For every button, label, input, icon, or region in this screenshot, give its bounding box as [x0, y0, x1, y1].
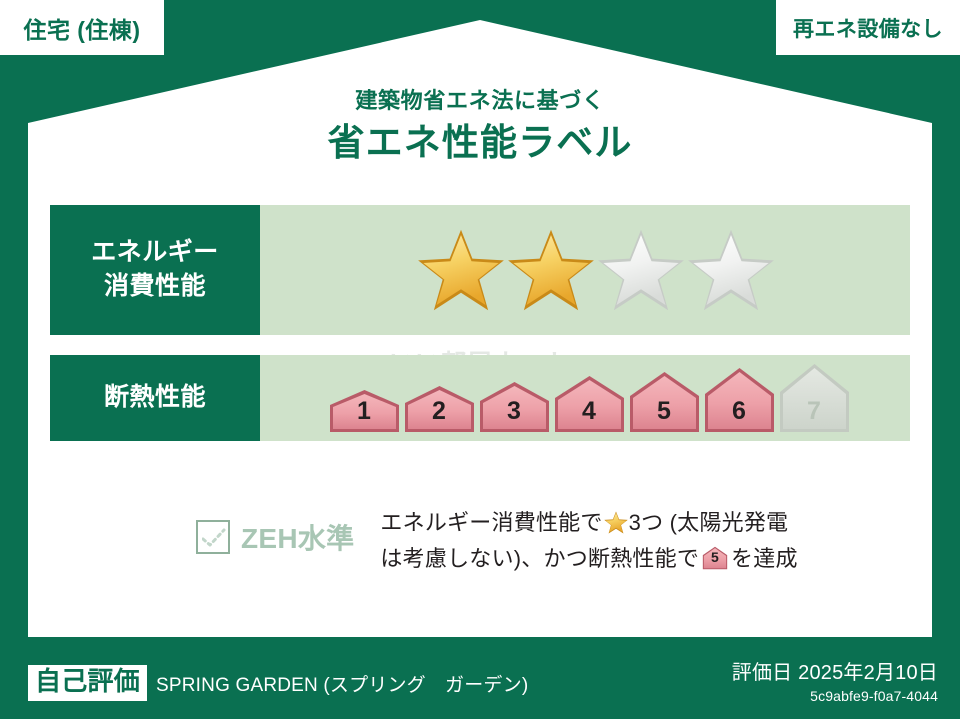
- energy-performance-label: 住宅 (住棟) 再エネ設備なし 建築物省エネ法に基づく 省エネ性能ラベル いい部…: [0, 0, 960, 719]
- inline-grade-badge: 5: [702, 546, 728, 570]
- title-block: 建築物省エネ法に基づく 省エネ性能ラベル: [0, 88, 960, 167]
- inline-grade-value: 5: [702, 546, 728, 569]
- label-id: 5c9abfe9-f0a7-4044: [732, 688, 938, 705]
- zeh-mark: ZEH水準: [196, 517, 354, 557]
- footer-right: 評価日 2025年2月10日 5c9abfe9-f0a7-4044: [732, 660, 938, 705]
- inline-star-icon: [604, 511, 628, 534]
- energy-label-line1: エネルギー: [91, 236, 219, 270]
- zeh-desc-part3: を達成: [731, 546, 798, 571]
- grade-badge-2: 2: [403, 384, 476, 434]
- grade-badge-4: 4: [553, 374, 626, 434]
- zeh-standard-block: ZEH水準 エネルギー消費性能で 3つ (太陽光発電 は考慮しない)、かつ断熱性…: [196, 505, 896, 576]
- label-subtitle: 建築物省エネ法に基づく: [0, 88, 960, 114]
- check-icon: [202, 528, 226, 548]
- page-title: 省エネ性能ラベル: [0, 120, 960, 166]
- grade-badge-6: 6: [703, 366, 776, 434]
- zeh-desc-star-count: 3つ (太陽光発電: [629, 510, 789, 535]
- star-filled-icon: [417, 228, 505, 312]
- evaluation-date: 評価日 2025年2月10日: [732, 660, 938, 686]
- building-type-tag: 住宅 (住棟): [0, 0, 164, 55]
- grade-badge-3: 3: [478, 380, 551, 434]
- building-name: SPRING GARDEN (スプリング ガーデン): [156, 670, 528, 697]
- zeh-description: エネルギー消費性能で 3つ (太陽光発電 は考慮しない)、かつ断熱性能で 5 を…: [380, 505, 896, 576]
- zeh-desc-part2: は考慮しない)、かつ断熱性能で: [380, 546, 699, 571]
- star-filled-icon: [507, 228, 595, 312]
- insulation-label-line1: 断熱性能: [104, 381, 206, 415]
- zeh-checkbox[interactable]: [196, 520, 230, 554]
- insulation-performance-row: 断熱性能: [50, 355, 910, 441]
- insulation-performance-label-box: 断熱性能: [50, 355, 260, 441]
- zeh-desc-part1: エネルギー消費性能で: [380, 510, 602, 535]
- energy-rating-panel: [260, 205, 910, 335]
- grade-badge-5: 5: [628, 370, 701, 434]
- star-empty-icon: [687, 228, 775, 312]
- energy-performance-label-box: エネルギー 消費性能: [50, 205, 260, 335]
- footer-left: 自己評価 SPRING GARDEN (スプリング ガーデン): [28, 665, 528, 701]
- star-rating: [417, 228, 775, 312]
- insulation-grade-panel: 1 2 3: [260, 355, 910, 441]
- evaluation-type-tag: 自己評価: [28, 665, 147, 701]
- energy-performance-row: エネルギー 消費性能: [50, 205, 910, 335]
- energy-label-line2: 消費性能: [104, 270, 206, 304]
- grade-badge-1: 1: [328, 388, 401, 434]
- insulation-grade-scale: 1 2 3: [328, 362, 851, 434]
- zeh-label: ZEH水準: [241, 517, 354, 557]
- renewable-energy-tag: 再エネ設備なし: [776, 0, 960, 55]
- star-empty-icon: [597, 228, 685, 312]
- grade-badge-7: 7: [778, 362, 851, 434]
